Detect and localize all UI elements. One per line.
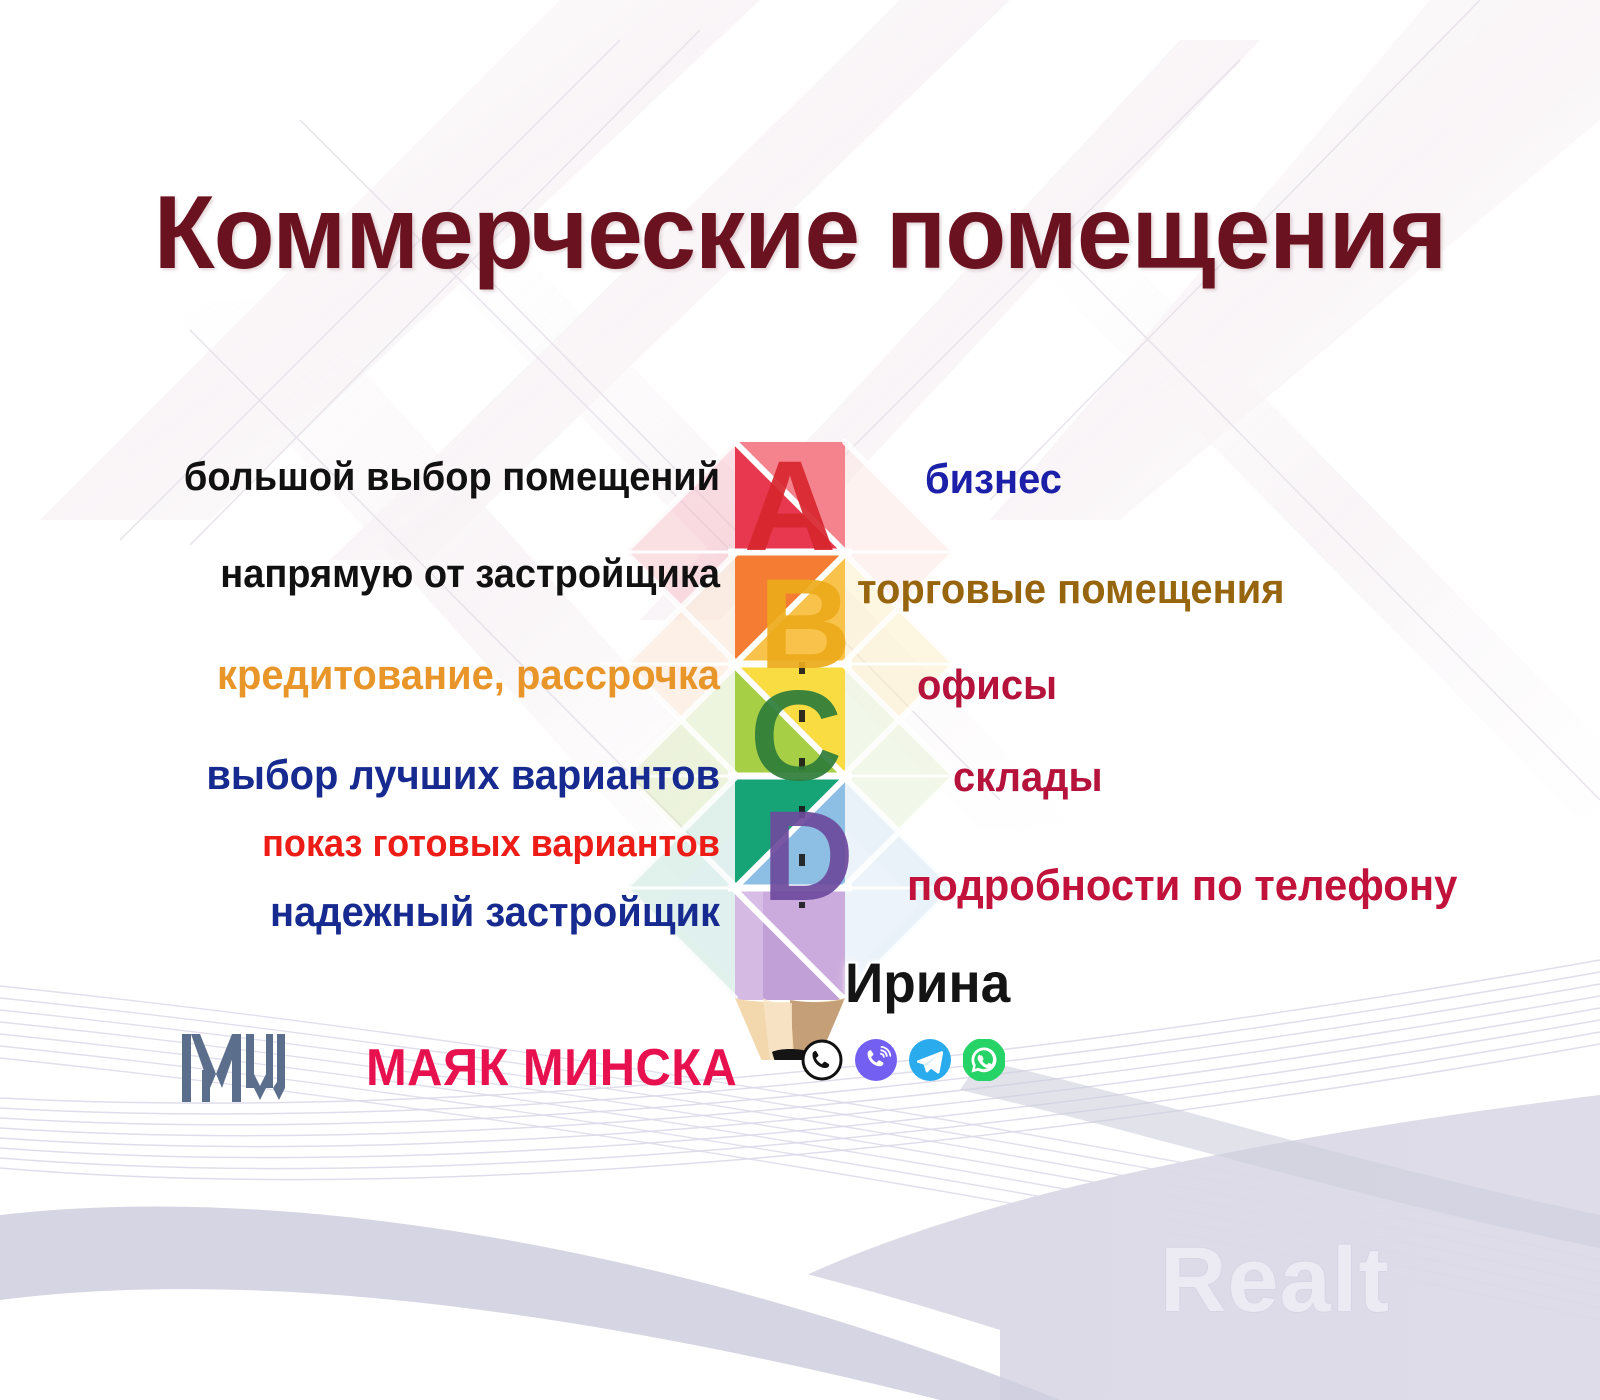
brand-block: МАЯК МИНСКА xyxy=(180,1030,761,1106)
page-title: Коммерческие помещения xyxy=(32,178,1568,288)
realt-watermark: Realt xyxy=(1160,1228,1390,1333)
feature-left-1: напрямую от застройщика xyxy=(93,552,720,597)
feature-right-3: склады xyxy=(953,753,1553,801)
features-left-list: большой выбор помещений напрямую от заст… xyxy=(60,455,720,936)
feature-left-5: надежный застройщик xyxy=(93,888,720,936)
messenger-icons xyxy=(800,1038,1006,1082)
brand-name: МАЯК МИНСКА xyxy=(366,1038,737,1098)
slide-canvas: Коммерческие помещения xyxy=(0,0,1600,1400)
telegram-icon[interactable] xyxy=(908,1038,952,1082)
feature-left-4: показ готовых вариантов xyxy=(93,823,720,866)
feature-right-4: подробности по телефону xyxy=(907,861,1551,911)
phone-icon[interactable] xyxy=(800,1038,844,1082)
agent-name: Ирина xyxy=(845,950,1010,1015)
feature-right-0: бизнес xyxy=(925,455,1552,503)
letter-d: D xyxy=(762,785,854,928)
mayak-minska-logo-icon xyxy=(180,1030,290,1106)
features-right-list: бизнес торговые помещения офисы склады п… xyxy=(845,455,1585,911)
viber-icon[interactable] xyxy=(854,1038,898,1082)
feature-right-1: торговые помещения xyxy=(857,565,1549,613)
feature-left-3: выбор лучших вариантов xyxy=(93,751,720,799)
feature-left-0: большой выбор помещений xyxy=(93,455,720,500)
feature-left-2: кредитование, рассрочка xyxy=(93,651,720,699)
feature-right-2: офисы xyxy=(917,661,1552,709)
whatsapp-icon[interactable] xyxy=(962,1038,1006,1082)
